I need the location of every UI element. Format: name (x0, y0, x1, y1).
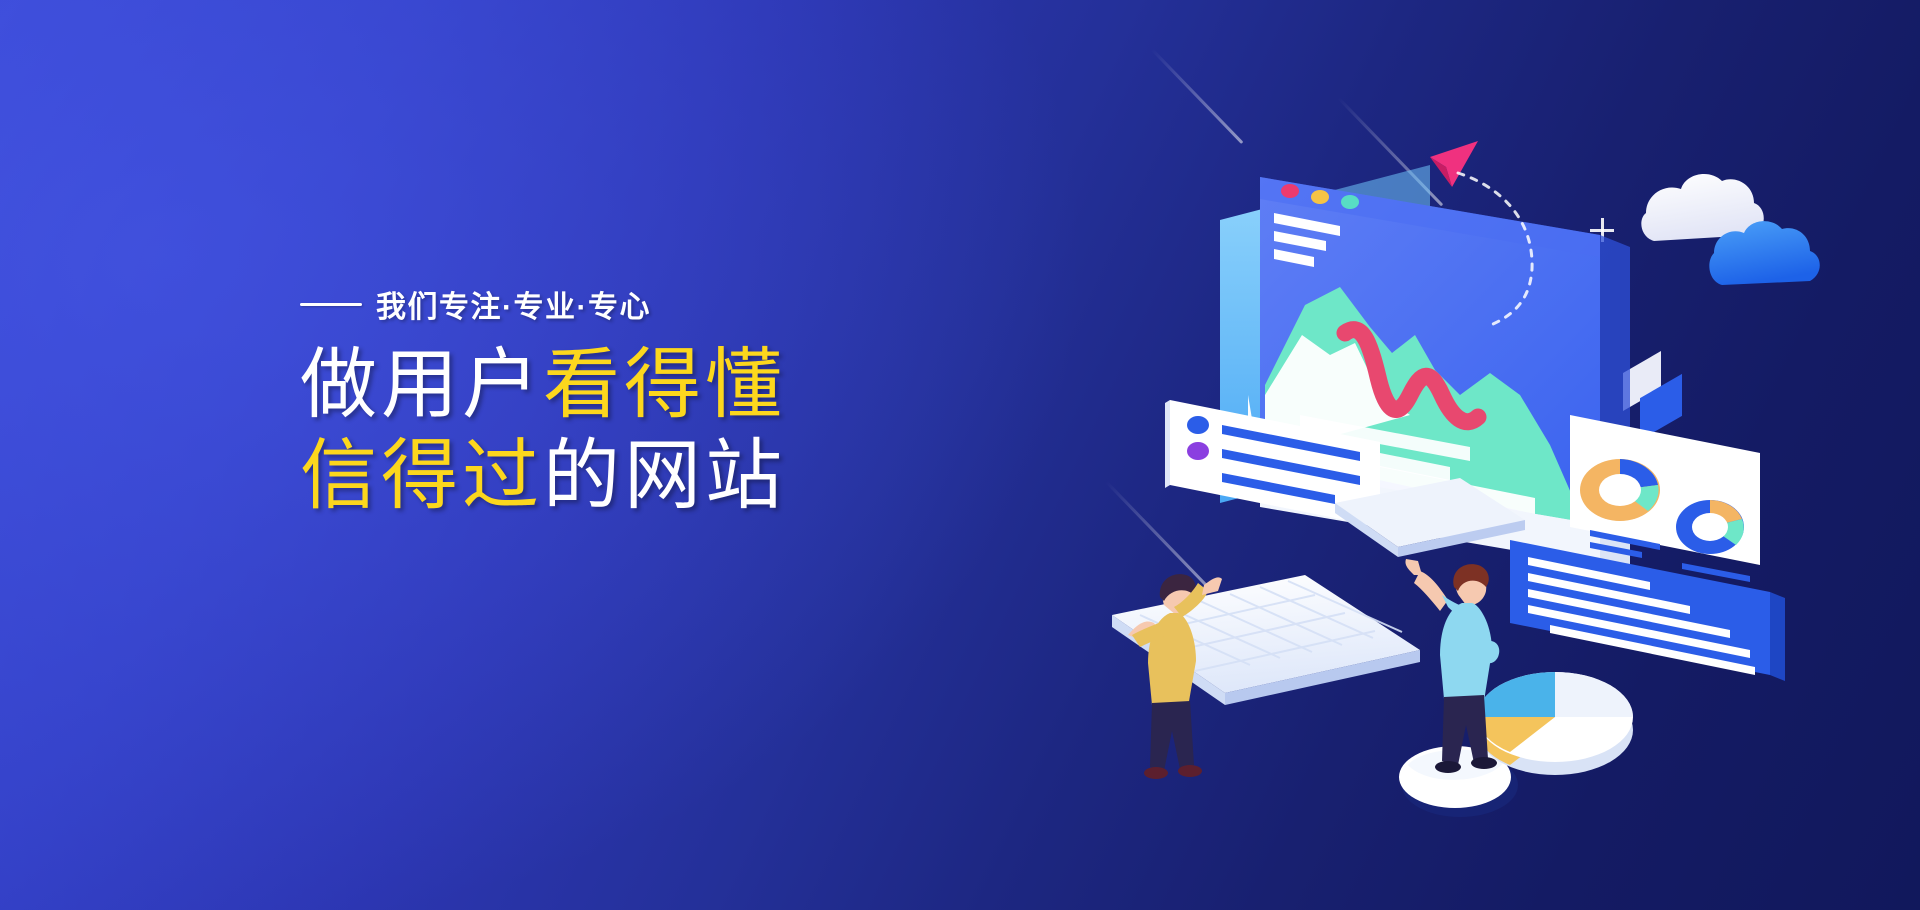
headline-line1-white: 做用户 (300, 342, 543, 428)
isometric-dashboard-illustration (1130, 95, 1850, 795)
donut-chart-small (1676, 500, 1744, 554)
person-right (1405, 559, 1499, 773)
tagline-text: 我们专注·专业·专心 (376, 282, 651, 326)
headline-line1-accent: 看得懂 (543, 342, 786, 428)
window-dot-green (1341, 195, 1359, 209)
hero-text-block: 我们专注·专业·专心 做用户看得懂 信得过的网站 (300, 282, 1040, 522)
card-dot-blue (1187, 416, 1209, 434)
tagline: 我们专注·专业·专心 (300, 282, 1040, 326)
headline-line2-white: 的网站 (543, 433, 786, 519)
em-dash-rule-icon (300, 303, 362, 306)
window-dot-yellow (1311, 190, 1329, 204)
headline-line2-accent: 信得过 (300, 433, 543, 519)
person-left-pants (1150, 701, 1194, 771)
donut-chart-large (1580, 459, 1660, 521)
headline-line-2: 信得过的网站 (300, 431, 1040, 522)
hero-banner: 我们专注·专业·专心 做用户看得懂 信得过的网站 (0, 0, 1920, 910)
window-dot-red (1281, 184, 1299, 198)
paper-plane (1430, 141, 1478, 187)
headline-line-1: 做用户看得懂 (300, 340, 1040, 431)
card-dot-purple (1187, 442, 1209, 460)
pie-chart-podium (1477, 672, 1633, 775)
